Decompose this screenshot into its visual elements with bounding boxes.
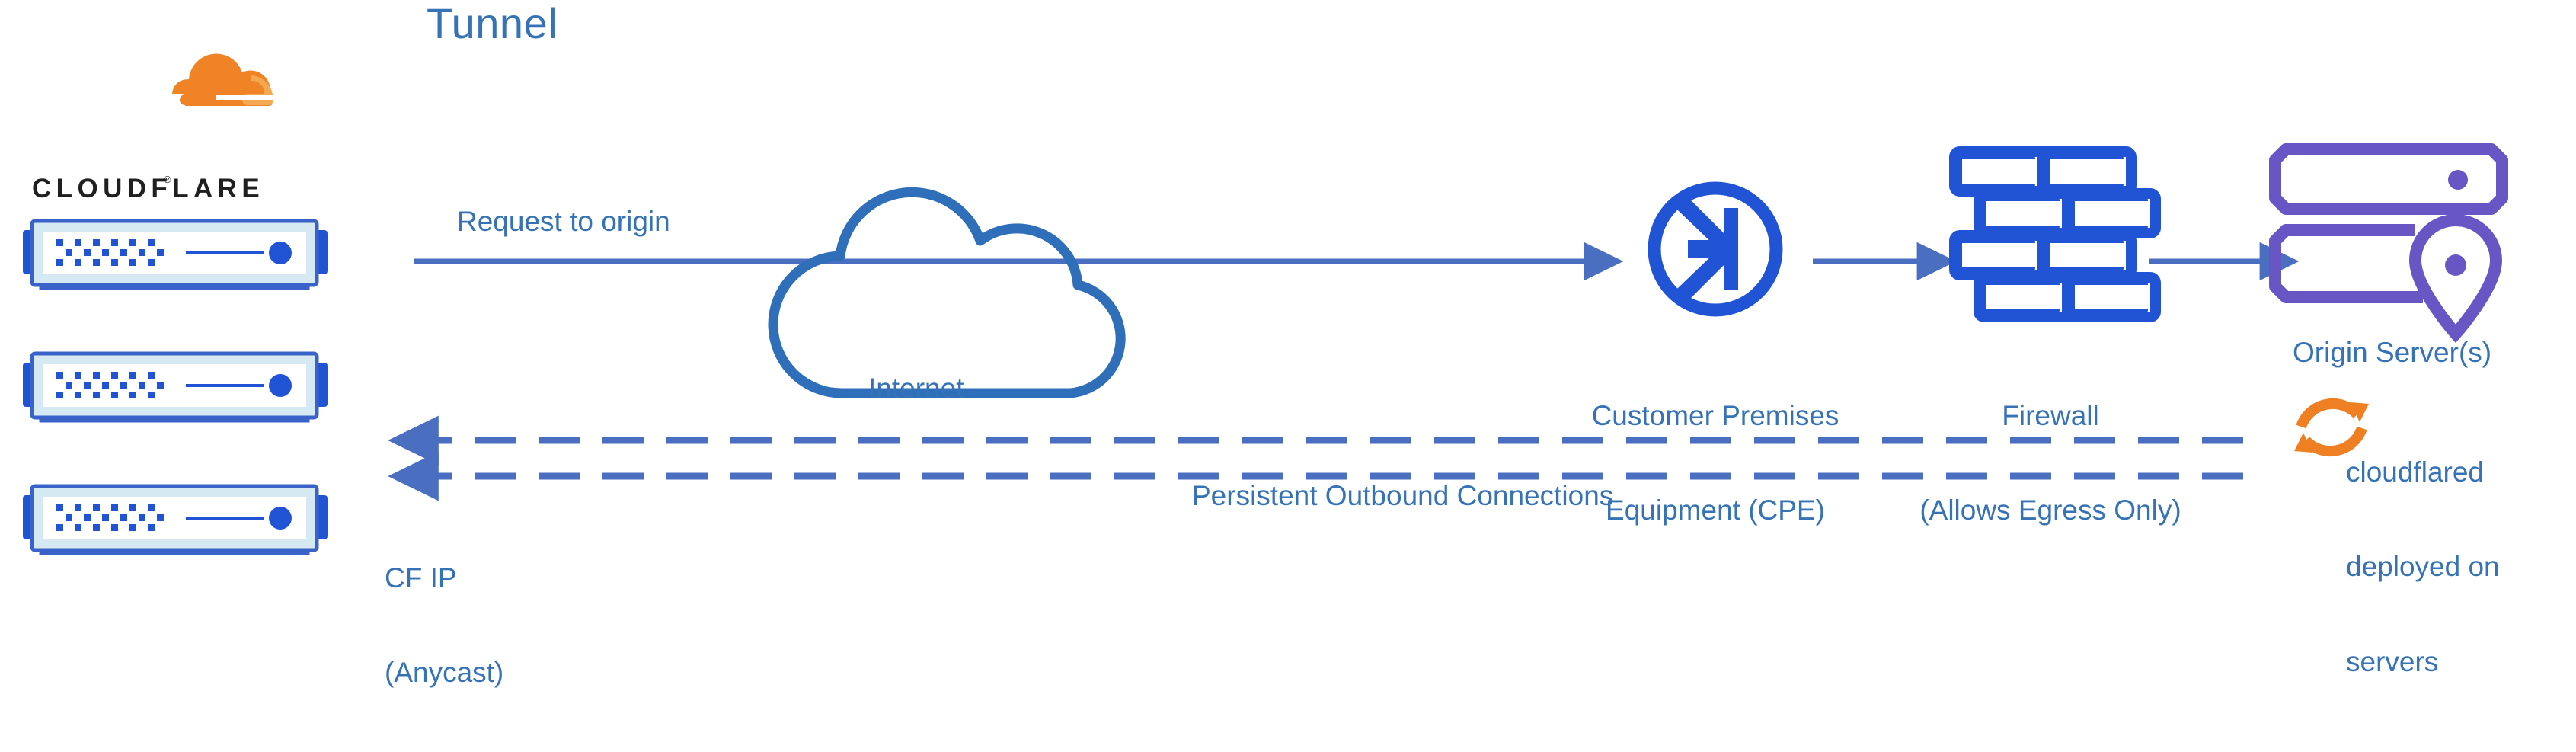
cf-ip-label: CF IP (Anycast) bbox=[385, 499, 503, 752]
cloudflared-label-line1: cloudflared bbox=[2346, 456, 2500, 488]
firewall-label-line2: (Allows Egress Only) bbox=[1883, 494, 2218, 526]
server-led bbox=[2448, 170, 2468, 190]
cf-server-stack bbox=[23, 221, 328, 553]
firewall-label-line1: Firewall bbox=[1883, 400, 2218, 431]
network-switch-icon bbox=[23, 486, 328, 553]
cf-ip-label-line1: CF IP bbox=[385, 562, 503, 594]
network-switch-icon bbox=[23, 221, 328, 288]
persistent-outbound-label: Persistent Outbound Connections bbox=[1192, 480, 1613, 511]
location-pin-icon bbox=[2415, 220, 2496, 334]
network-switch-icon bbox=[23, 354, 328, 421]
firewall-label: Firewall (Allows Egress Only) bbox=[1883, 337, 2218, 590]
cpe-label: Customer Premises Equipment (CPE) bbox=[1555, 337, 1875, 590]
cloud-icon bbox=[773, 192, 1120, 393]
registered-trademark-icon: ® bbox=[164, 174, 171, 185]
converging-arrows-circle-icon bbox=[1654, 188, 1776, 310]
origin-servers-label: Origin Server(s) bbox=[2293, 337, 2491, 368]
page-title: Tunnel bbox=[427, 0, 558, 48]
cf-ip-label-line2: (Anycast) bbox=[385, 657, 503, 688]
request-to-origin-label: Request to origin bbox=[457, 206, 670, 237]
cloudflared-label-line2: deployed on bbox=[2346, 551, 2500, 582]
cloudflare-logo: CLOUDFLARE ® bbox=[15, 107, 175, 206]
cloudflare-wordmark: CLOUDFLARE bbox=[32, 174, 264, 204]
cloudflared-label: cloudflared deployed on servers bbox=[2346, 393, 2500, 741]
internet-label: Internet bbox=[868, 373, 964, 404]
cloudflared-label-line3: servers bbox=[2346, 646, 2500, 677]
cpe-label-line1: Customer Premises bbox=[1555, 400, 1875, 431]
diagram-canvas: Tunnel CLOUDFLARE ® Request to origin In… bbox=[0, 0, 2576, 617]
cloudflare-cloud-logo bbox=[172, 54, 276, 106]
